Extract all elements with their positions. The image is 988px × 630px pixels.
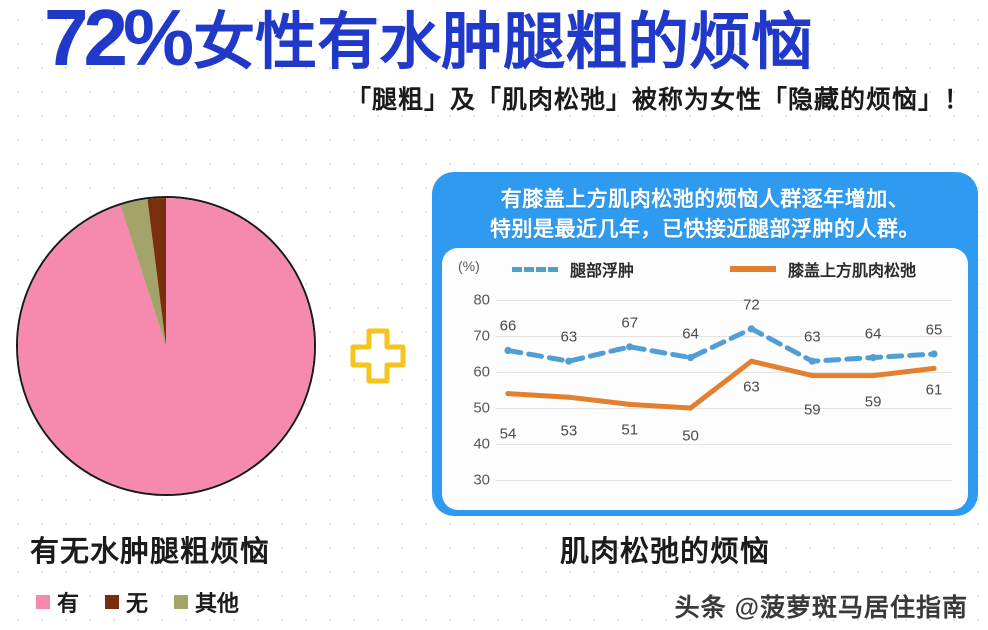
data-label-leg-edema-4: 72 bbox=[743, 296, 760, 313]
line-chart-card: (%) 腿部浮肿 膝盖上方肌肉松弛 807060504030 666367647… bbox=[442, 248, 968, 510]
data-label-knee-muscle-1: 53 bbox=[561, 423, 578, 440]
y-axis: 807060504030 bbox=[452, 278, 490, 510]
line-chart-caption: 肌肉松弛的烦恼 bbox=[560, 528, 770, 570]
data-point bbox=[565, 358, 572, 365]
data-label-knee-muscle-4: 63 bbox=[743, 379, 760, 396]
subheadline: 「腿粗」及「肌肉松弛」被称为女性「隐藏的烦恼」！ bbox=[346, 80, 970, 116]
infographic-page: 72%女性有水肿腿粗的烦恼 「腿粗」及「肌肉松弛」被称为女性「隐藏的烦恼」！ 有… bbox=[0, 0, 988, 630]
data-label-knee-muscle-0: 54 bbox=[500, 425, 517, 442]
data-label-knee-muscle-2: 51 bbox=[621, 422, 638, 439]
data-point bbox=[809, 358, 816, 365]
data-label-leg-edema-6: 64 bbox=[865, 325, 882, 342]
data-label-knee-muscle-7: 61 bbox=[926, 382, 943, 399]
y-tick-50: 50 bbox=[452, 400, 490, 417]
legend-item-no: 无 bbox=[105, 586, 148, 618]
data-point bbox=[871, 373, 876, 378]
y-tick-70: 70 bbox=[452, 328, 490, 345]
legend-swatch-other bbox=[174, 595, 188, 609]
data-point bbox=[687, 354, 694, 361]
data-label-knee-muscle-3: 50 bbox=[682, 428, 699, 445]
line-chart-panel: 有膝盖上方肌肉松弛的烦恼人群逐年增加、 特别是最近几年，已快接近腿部浮肿的人群。… bbox=[432, 172, 978, 516]
plot-area: 807060504030 666367647263646554535150635… bbox=[442, 278, 968, 510]
y-tick-80: 80 bbox=[452, 292, 490, 309]
data-point bbox=[627, 402, 632, 407]
data-label-knee-muscle-5: 59 bbox=[804, 401, 821, 418]
legend-item-yes: 有 bbox=[36, 586, 79, 618]
legend-label-other: 其他 bbox=[195, 586, 239, 618]
data-point bbox=[505, 391, 510, 396]
headline-text: 女性有水肿腿粗的烦恼 bbox=[193, 8, 813, 77]
data-point bbox=[931, 366, 936, 371]
data-point bbox=[566, 395, 571, 400]
data-label-leg-edema-3: 64 bbox=[682, 325, 699, 342]
y-tick-40: 40 bbox=[452, 436, 490, 453]
legend-line-dashed-icon bbox=[512, 267, 558, 272]
data-point bbox=[870, 354, 877, 361]
data-label-leg-edema-1: 63 bbox=[561, 329, 578, 346]
panel-title-line-1: 有膝盖上方肌肉松弛的烦恼人群逐年增加、 bbox=[442, 185, 968, 215]
panel-title: 有膝盖上方肌肉松弛的烦恼人群逐年增加、 特别是最近几年，已快接近腿部浮肿的人群。 bbox=[442, 182, 968, 245]
pie-svg bbox=[18, 198, 314, 494]
legend-label-yes: 有 bbox=[57, 586, 79, 618]
plus-icon bbox=[347, 325, 409, 387]
line-chart: (%) 腿部浮肿 膝盖上方肌肉松弛 807060504030 666367647… bbox=[442, 248, 968, 510]
data-point bbox=[626, 343, 633, 350]
plot-lines bbox=[496, 278, 952, 510]
legend-label-no: 无 bbox=[126, 586, 148, 618]
data-point bbox=[688, 405, 693, 410]
data-point bbox=[930, 350, 937, 357]
data-label-leg-edema-2: 67 bbox=[621, 314, 638, 331]
data-label-leg-edema-5: 63 bbox=[804, 329, 821, 346]
y-tick-60: 60 bbox=[452, 364, 490, 381]
watermark: 头条 @菠萝斑马居住指南 bbox=[675, 588, 968, 624]
pie-chart-caption: 有无水肿腿粗烦恼 bbox=[30, 528, 270, 570]
headline-stat: 72% bbox=[44, 0, 189, 82]
legend-item-other: 其他 bbox=[174, 586, 239, 618]
page-title: 72%女性有水肿腿粗的烦恼 bbox=[44, 0, 813, 87]
pie-circle bbox=[16, 196, 316, 496]
data-label-leg-edema-0: 66 bbox=[500, 318, 517, 335]
data-label-leg-edema-7: 65 bbox=[926, 322, 943, 339]
legend-line-solid-icon bbox=[730, 266, 776, 272]
percent-unit-label: (%) bbox=[458, 258, 480, 274]
data-point bbox=[504, 347, 511, 354]
pie-legend: 有 无 其他 bbox=[36, 586, 239, 618]
data-point bbox=[810, 373, 815, 378]
panel-title-line-2: 特别是最近几年，已快接近腿部浮肿的人群。 bbox=[442, 215, 968, 245]
data-label-knee-muscle-6: 59 bbox=[865, 393, 882, 410]
legend-swatch-yes bbox=[36, 595, 50, 609]
y-tick-30: 30 bbox=[452, 472, 490, 489]
data-point bbox=[749, 359, 754, 364]
header: 72%女性有水肿腿粗的烦恼 「腿粗」及「肌肉松弛」被称为女性「隐藏的烦恼」！ bbox=[0, 0, 988, 120]
data-point bbox=[748, 325, 755, 332]
pie-chart bbox=[16, 196, 316, 496]
legend-swatch-no bbox=[105, 595, 119, 609]
